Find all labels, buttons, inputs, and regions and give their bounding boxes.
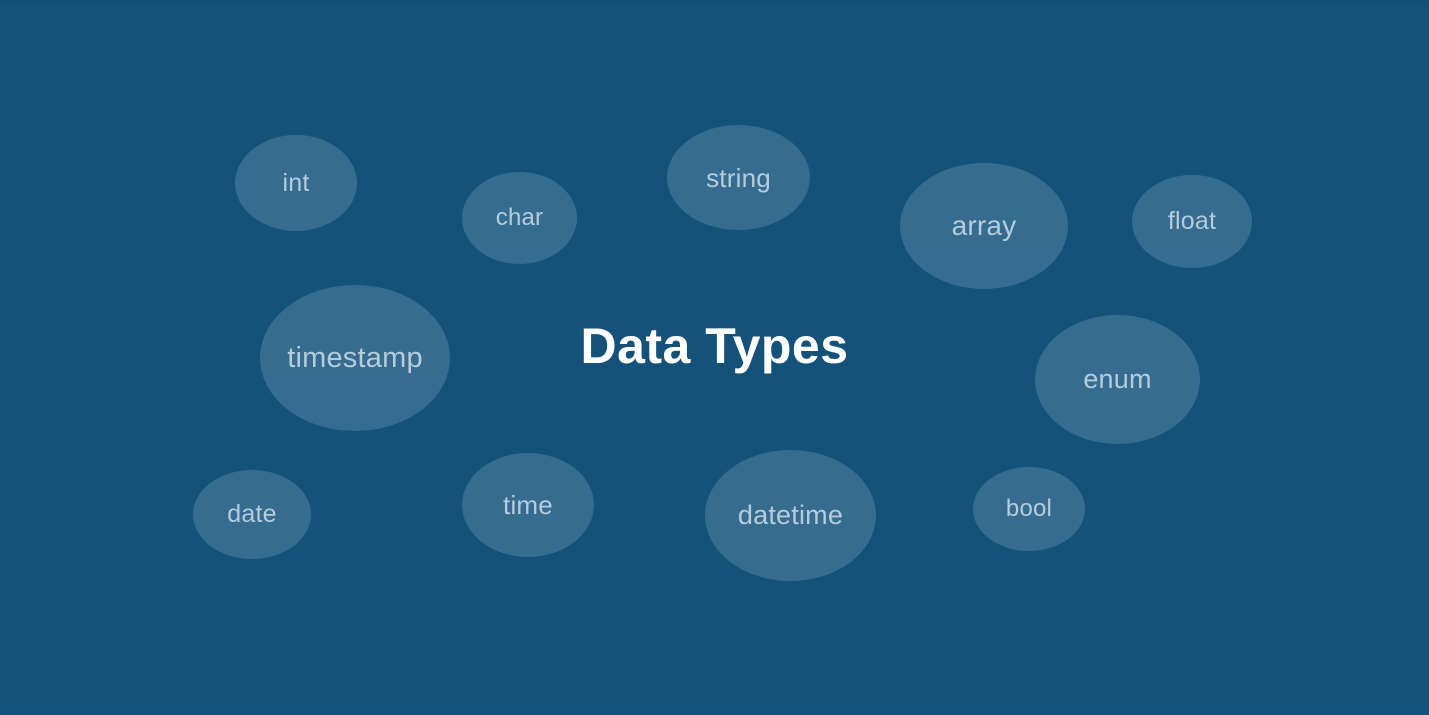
bubble-int[interactable]: int: [235, 135, 357, 231]
bubble-string[interactable]: string: [667, 125, 810, 230]
bubble-array[interactable]: array: [900, 163, 1068, 289]
bubble-label: date: [227, 502, 276, 527]
bubble-label: float: [1168, 209, 1216, 234]
bubble-label: int: [282, 171, 309, 196]
bubble-label: char: [496, 206, 544, 230]
page-title: Data Types: [0, 318, 1429, 376]
data-types-word-cloud: intcharstringarrayfloattimestampenumdate…: [0, 0, 1429, 715]
bubble-bool[interactable]: bool: [973, 467, 1085, 551]
bubble-label: datetime: [738, 502, 843, 529]
bubble-char[interactable]: char: [462, 172, 577, 264]
bubble-time[interactable]: time: [462, 453, 594, 557]
bubble-label: string: [706, 165, 771, 191]
bubble-label: bool: [1006, 497, 1052, 521]
bubble-datetime[interactable]: datetime: [705, 450, 876, 581]
bubble-label: array: [952, 212, 1017, 240]
bottom-edge-band: [0, 707, 1429, 715]
bubble-date[interactable]: date: [193, 470, 311, 559]
bubble-float[interactable]: float: [1132, 175, 1252, 268]
top-edge-band: [0, 0, 1429, 3]
bubble-label: time: [503, 492, 553, 518]
